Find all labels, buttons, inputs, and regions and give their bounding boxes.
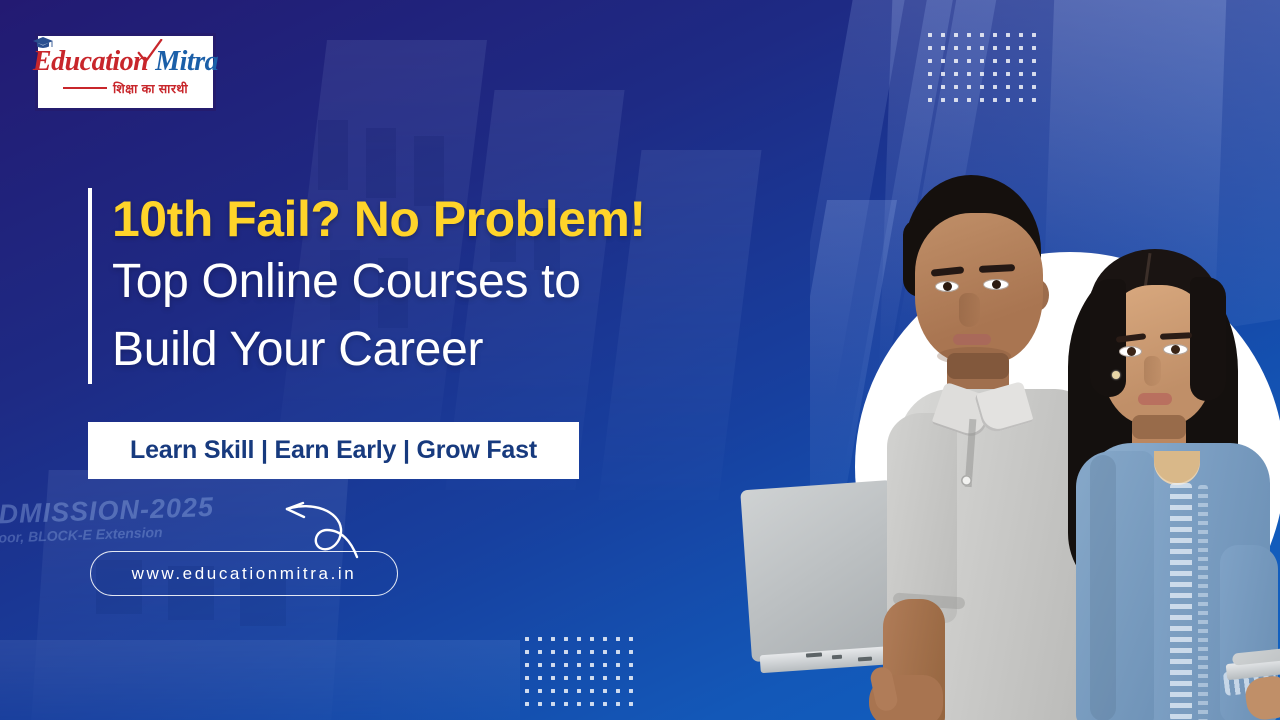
logo-text-education: Education	[33, 48, 148, 76]
students-photo	[840, 150, 1280, 720]
headline-line-1: 10th Fail? No Problem!	[112, 190, 646, 248]
skills-badge: Learn Skill | Earn Early | Grow Fast	[88, 422, 579, 479]
headline-accent-bar	[88, 188, 92, 384]
logo-divider-rule	[63, 87, 107, 89]
logo-wordmark: Education Mitra	[33, 48, 218, 76]
headline-line-2: Top Online Courses to	[112, 248, 646, 316]
skills-badge-text: Learn Skill | Earn Early | Grow Fast	[130, 436, 537, 465]
brand-logo[interactable]: Education Mitra शिक्षा का सारथी	[35, 33, 216, 111]
female-student	[1050, 245, 1280, 720]
logo-text-mitra: Mitra	[155, 48, 218, 76]
website-url-pill[interactable]: www.educationmitra.in	[90, 551, 398, 596]
logo-tagline-text: शिक्षा का सारथी	[113, 80, 188, 97]
headline-line-3: Build Your Career	[112, 316, 646, 384]
promo-banner: ADMISSION-2025 Floor, BLOCK-E Extension …	[0, 0, 1280, 720]
website-url-text: www.educationmitra.in	[132, 564, 357, 584]
checkmark-icon	[137, 39, 163, 65]
dot-grid-bottom-left	[525, 637, 642, 715]
headline-lines: 10th Fail? No Problem! Top Online Course…	[112, 188, 646, 384]
logo-tagline-row: शिक्षा का सारथी	[63, 80, 188, 97]
headline-block: 10th Fail? No Problem! Top Online Course…	[88, 188, 646, 384]
graduation-cap-icon	[32, 36, 54, 49]
dot-grid-top-right	[928, 33, 1045, 111]
